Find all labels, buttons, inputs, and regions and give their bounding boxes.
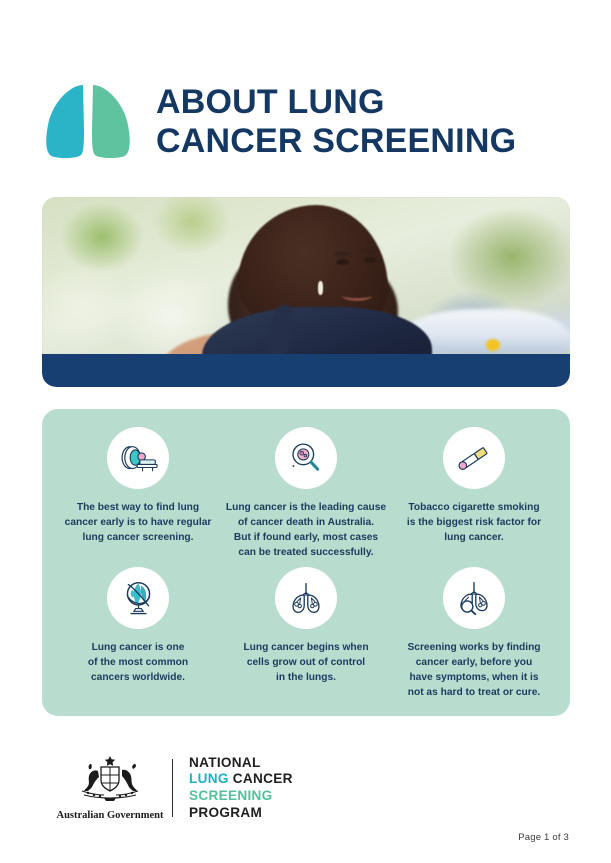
poster-header: ABOUT LUNG CANCER SCREENING — [42, 72, 582, 172]
fact-text: Lung cancer begins when cells grow out o… — [243, 640, 368, 685]
hero-image-block — [42, 197, 570, 387]
fact-text: Screening works by finding cancer early,… — [407, 640, 540, 700]
facts-panel: The best way to find lung cancer early i… — [42, 409, 570, 716]
facts-grid: The best way to find lung cancer early i… — [42, 409, 570, 716]
page-number: Page 1 of 3 — [518, 832, 569, 843]
australian-coat-of-arms-icon: Australian Government — [60, 755, 160, 821]
fact-text: Lung cancer is the leading cause of canc… — [226, 500, 386, 560]
fact-cell-screening-works: Screening works by finding cancer early,… — [392, 567, 556, 701]
program-line-national: NATIONAL — [189, 755, 293, 772]
fact-cell-leading-cause: Lung cancer is the leading cause of canc… — [224, 427, 388, 561]
magnifier-cell-icon — [275, 427, 337, 489]
photo-yellow-accent — [486, 339, 500, 351]
lungs-icon — [275, 567, 337, 629]
fact-text: Tobacco cigarette smoking is the biggest… — [407, 500, 541, 545]
program-word-cancer-text: CANCER — [233, 771, 293, 786]
photo-eye-left — [336, 259, 349, 265]
photo-eyebrow-left — [334, 252, 351, 256]
cigarette-icon — [443, 427, 505, 489]
photo-mouth — [342, 291, 372, 301]
fact-cell-cell-growth: Lung cancer begins when cells grow out o… — [224, 567, 388, 701]
hero-navy-bar — [42, 354, 570, 387]
fact-cell-screening: The best way to find lung cancer early i… — [56, 427, 220, 561]
program-line-screening: SCREENING — [189, 788, 293, 805]
photo-eye-right — [364, 257, 376, 263]
program-line-program: PROGRAM — [189, 805, 293, 822]
program-line-lung-cancer: LUNG CANCER — [189, 771, 293, 788]
hero-photo — [42, 197, 570, 354]
fact-text: The best way to find lung cancer early i… — [65, 500, 212, 545]
poster-page: ABOUT LUNG CANCER SCREENING — [0, 0, 611, 863]
ct-scanner-icon — [107, 427, 169, 489]
title-line-2: CANCER SCREENING — [156, 122, 516, 161]
footer-divider — [172, 759, 173, 817]
fact-text: Lung cancer is one of the most common ca… — [88, 640, 188, 685]
photo-eyebrow-right — [362, 249, 378, 253]
program-word-lung: LUNG — [189, 771, 229, 786]
fact-cell-worldwide: Lung cancer is one of the most common ca… — [56, 567, 220, 701]
poster-footer: Australian Government NATIONAL LUNG CANC… — [60, 749, 360, 827]
title-line-1: ABOUT LUNG — [156, 83, 516, 122]
photo-earring — [318, 281, 323, 295]
crest-caption: Australian Government — [56, 810, 163, 821]
program-logo: NATIONAL LUNG CANCER SCREENING PROGRAM — [189, 755, 293, 822]
lungs-magnifier-icon — [443, 567, 505, 629]
fact-cell-tobacco: Tobacco cigarette smoking is the biggest… — [392, 427, 556, 561]
lungs-logo-icon — [42, 81, 134, 163]
globe-icon — [107, 567, 169, 629]
page-title: ABOUT LUNG CANCER SCREENING — [156, 83, 516, 162]
